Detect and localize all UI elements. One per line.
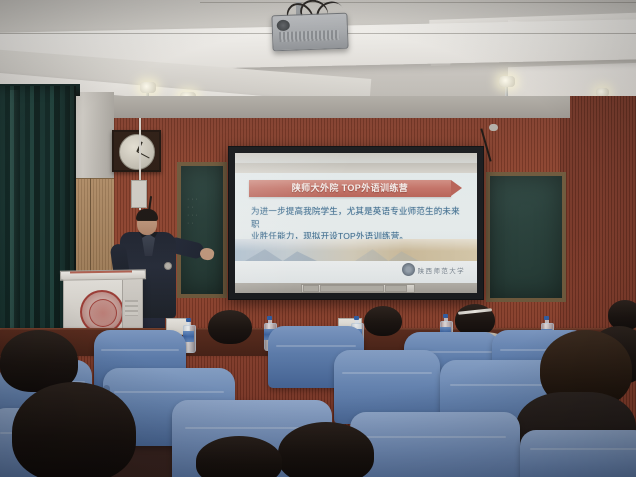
blackboard-right: [486, 172, 566, 302]
presenter-glasses-icon: [138, 220, 156, 225]
slide-body-text: 为进一步提高我院学生，尤其是英语专业师范生的未来职 业胜任能力，现拟开设TOP外…: [251, 205, 463, 243]
slide-mountain-shape-1: [245, 245, 335, 261]
seat-crease: [530, 448, 636, 450]
blackboard-left: · · ·· ·· · ·· ·: [177, 162, 227, 298]
projector-vent: [279, 30, 339, 42]
projection-screen-surface: 陕师大外院 TOP外语训练营 为进一步提高我院学生，尤其是英语专业师范生的未来职…: [235, 153, 477, 293]
slide-title: 陕师大外院 TOP外语训练营: [249, 180, 451, 197]
wall-upper-band: [100, 96, 570, 118]
wall-clock: [112, 130, 161, 172]
audience-head-back-1: [208, 310, 252, 344]
projector-lens: [277, 20, 290, 31]
taskbar-item[interactable]: [320, 285, 384, 292]
slide-top-band: [235, 163, 477, 173]
seat-row3-4[interactable]: [520, 430, 636, 477]
podium-vent: [125, 300, 138, 316]
slide-decorative-image-band: [235, 239, 477, 261]
curtain-highlight: [10, 90, 20, 340]
desktop-taskbar[interactable]: [301, 284, 415, 293]
taskbar-item[interactable]: [385, 285, 407, 292]
seat-crease: [114, 391, 225, 393]
seat-crease: [364, 436, 507, 438]
pull-cord-tag[interactable]: [131, 180, 147, 208]
ceiling-seam-1: [200, 2, 636, 3]
seat-row3-3[interactable]: [350, 412, 520, 477]
lecture-hall-photo: · · ·· ·· · ·· · 陕师大外院 TOP外语训练营 为进一步提高我院…: [0, 0, 636, 477]
audience-head-back-2: [364, 306, 402, 336]
university-logo: 陕西师范大学: [402, 263, 465, 276]
seat-crease: [101, 349, 178, 351]
seat-crease: [276, 345, 357, 347]
university-logo-text: 陕西师范大学: [418, 265, 465, 275]
audience-head-foreground-center: [278, 422, 374, 477]
ceiling-spot-lamp-3: [499, 76, 515, 87]
taskbar-item[interactable]: [303, 285, 319, 292]
presenter-badge: [164, 262, 172, 270]
presentation-slide: 陕师大外院 TOP外语训练营 为进一步提高我院学生，尤其是英语专业师范生的未来职…: [235, 163, 477, 283]
slide-mountain-shape-2: [355, 245, 435, 261]
slide-title-arrow: [451, 180, 462, 196]
projector-icon: [271, 13, 348, 52]
cord-hook-right: [489, 124, 498, 131]
university-emblem-inner-ring: [89, 299, 117, 327]
projection-screen: 陕师大外院 TOP外语训练营 为进一步提高我院学生，尤其是英语专业师范生的未来职…: [228, 146, 484, 300]
slide-body-line-1: 为进一步提高我院学生，尤其是英语专业师范生的未来职: [251, 205, 463, 230]
clock-face: [119, 134, 155, 170]
slide-title-banner: 陕师大外院 TOP外语训练营: [249, 180, 461, 197]
seat-crease: [342, 372, 431, 374]
audience-head-foreground-left: [12, 382, 136, 477]
university-seal-icon: [402, 263, 415, 276]
chalk-marks-left: · · ·· ·· · ·· ·: [187, 196, 198, 228]
ceiling-spot-lamp-1: [140, 82, 156, 93]
